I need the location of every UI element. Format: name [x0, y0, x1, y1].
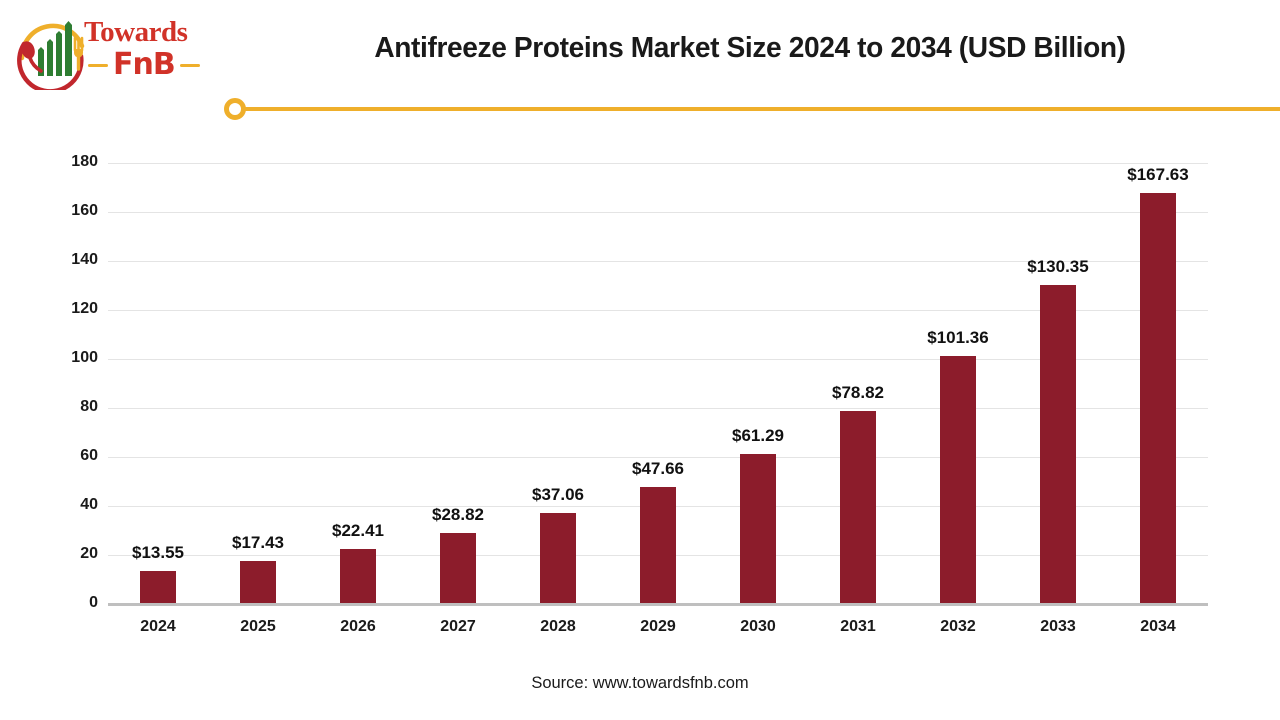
bar-value-label: $28.82	[394, 505, 522, 525]
bar-chart: 020406080100120140160180 $13.55$17.43$22…	[0, 0, 1280, 720]
bar-value-label: $130.35	[994, 257, 1122, 277]
y-axis-tick-label: 180	[48, 153, 98, 171]
y-axis-tick-label: 140	[48, 251, 98, 269]
bar[interactable]	[1140, 193, 1176, 604]
x-axis-tick-label: 2024	[108, 618, 208, 636]
y-axis-tick-label: 160	[48, 202, 98, 220]
x-axis-tick-label: 2031	[808, 618, 908, 636]
x-axis-line	[108, 603, 1208, 606]
bar-group[interactable]: $28.82	[408, 163, 508, 604]
bar[interactable]	[140, 571, 176, 604]
bar[interactable]	[440, 533, 476, 604]
bar-value-label: $37.06	[494, 485, 622, 505]
y-axis-labels: 020406080100120140160180	[48, 0, 98, 720]
x-axis-tick-label: 2030	[708, 618, 808, 636]
bar[interactable]	[340, 549, 376, 604]
bar-group[interactable]: $37.06	[508, 163, 608, 604]
y-axis-tick-label: 80	[48, 398, 98, 416]
x-axis-tick-label: 2034	[1108, 618, 1208, 636]
source-note: Source: www.towardsfnb.com	[0, 674, 1280, 693]
bar-value-label: $61.29	[694, 426, 822, 446]
bar[interactable]	[940, 356, 976, 604]
x-axis-tick-label: 2033	[1008, 618, 1108, 636]
bar-value-label: $167.63	[1094, 165, 1222, 185]
bar[interactable]	[1040, 285, 1076, 604]
bar-group[interactable]: $22.41	[308, 163, 408, 604]
x-axis-tick-label: 2029	[608, 618, 708, 636]
bar-group[interactable]: $167.63	[1108, 163, 1208, 604]
x-axis-tick-label: 2028	[508, 618, 608, 636]
bar-value-label: $47.66	[594, 459, 722, 479]
x-axis-tick-label: 2026	[308, 618, 408, 636]
y-axis-tick-label: 60	[48, 447, 98, 465]
x-axis-tick-label: 2025	[208, 618, 308, 636]
bar-group[interactable]: $101.36	[908, 163, 1008, 604]
bar-group[interactable]: $78.82	[808, 163, 908, 604]
bar[interactable]	[840, 411, 876, 604]
bar-group[interactable]: $47.66	[608, 163, 708, 604]
y-axis-tick-label: 100	[48, 349, 98, 367]
bar-group[interactable]: $17.43	[208, 163, 308, 604]
bar-value-label: $78.82	[794, 383, 922, 403]
bar-group[interactable]: $61.29	[708, 163, 808, 604]
bar[interactable]	[240, 561, 276, 604]
y-axis-tick-label: 120	[48, 300, 98, 318]
y-axis-tick-label: 40	[48, 496, 98, 514]
plot-area: $13.55$17.43$22.41$28.82$37.06$47.66$61.…	[108, 163, 1208, 604]
bar[interactable]	[540, 513, 576, 604]
bar-group[interactable]: $130.35	[1008, 163, 1108, 604]
y-axis-tick-label: 20	[48, 545, 98, 563]
bar-group[interactable]: $13.55	[108, 163, 208, 604]
y-axis-tick-label: 0	[48, 594, 98, 612]
bar[interactable]	[740, 454, 776, 604]
bar-value-label: $101.36	[894, 328, 1022, 348]
x-axis-tick-label: 2027	[408, 618, 508, 636]
x-axis-tick-label: 2032	[908, 618, 1008, 636]
bar[interactable]	[640, 487, 676, 604]
